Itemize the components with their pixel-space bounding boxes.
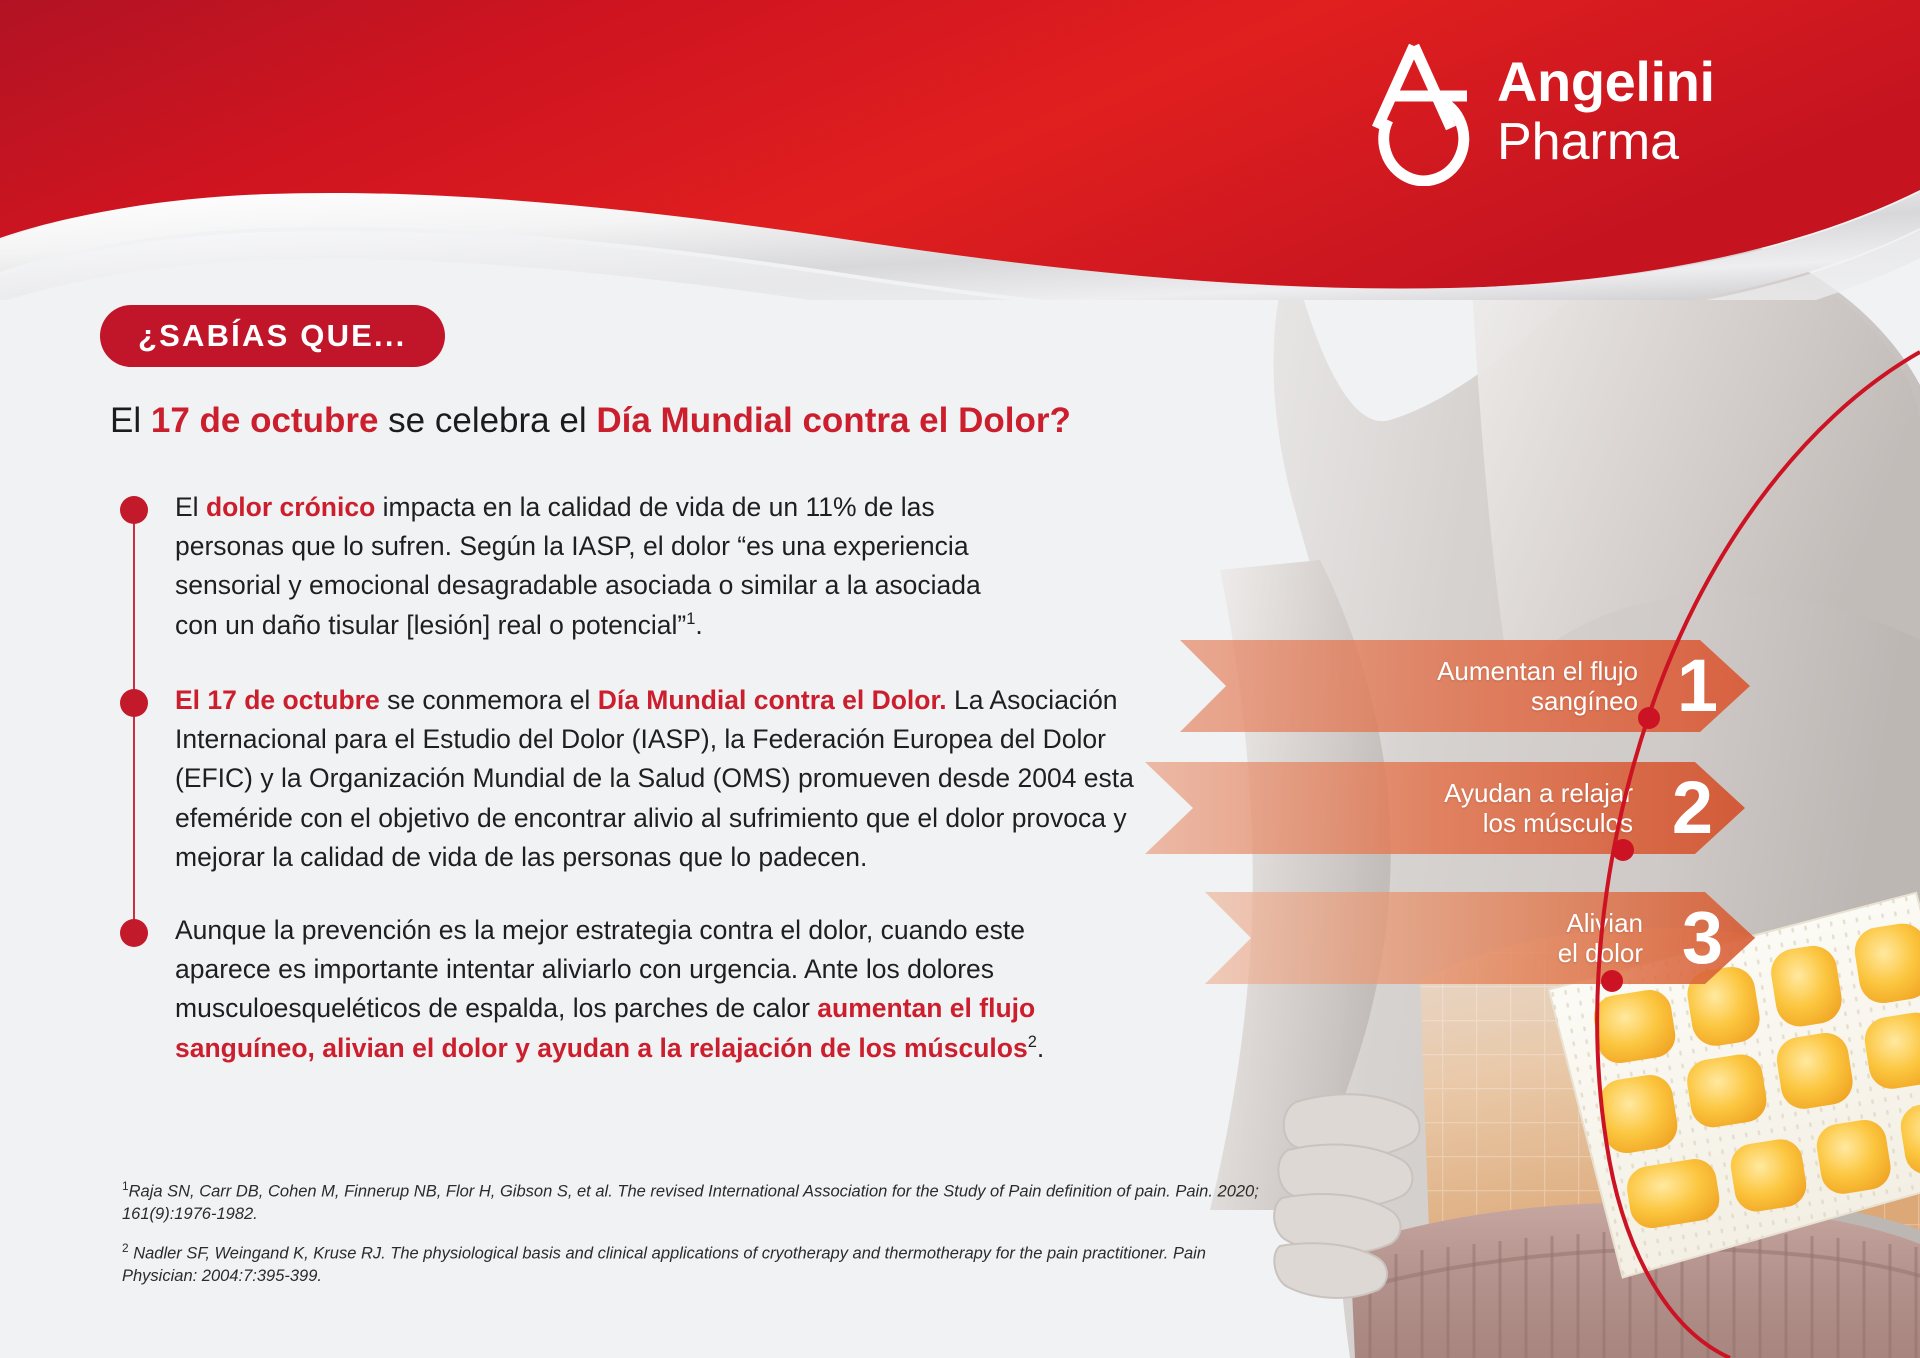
list-item-text: El 17 de octubre se conmemora el Día Mun… bbox=[175, 681, 1185, 877]
list-item: El dolor crónico impacta en la calidad d… bbox=[120, 488, 1160, 645]
angelini-droplet-a-logo-icon bbox=[1355, 36, 1473, 186]
curve-dot-2 bbox=[1612, 839, 1634, 861]
logo-brand-name: Angelini bbox=[1497, 54, 1715, 110]
footnote-2: 2 Nadler SF, Weingand K, Kruse RJ. The p… bbox=[122, 1240, 1282, 1288]
bullet-dot-icon bbox=[120, 496, 148, 524]
bullet-dot-icon bbox=[120, 689, 148, 717]
logo-brand-sub: Pharma bbox=[1497, 116, 1715, 168]
footnotes: 1Raja SN, Carr DB, Cohen M, Finnerup NB,… bbox=[122, 1178, 1282, 1302]
list-item: Aunque la prevención es la mejor estrate… bbox=[120, 911, 1160, 1068]
benefit-banner-1: Aumentan el flujo sangíneo 1 bbox=[1180, 640, 1750, 732]
page-title: El 17 de octubre se celebra el Día Mundi… bbox=[110, 400, 1170, 442]
infographic-poster: Angelini Pharma ¿SABÍAS QUE... El 17 de … bbox=[0, 0, 1920, 1358]
curve-dot-1 bbox=[1638, 707, 1660, 729]
benefit-banner-2: Ayudan a relajar los músculos 2 bbox=[1145, 762, 1745, 854]
bullet-dot-icon bbox=[120, 919, 148, 947]
benefit-banner-1-number: 1 bbox=[1677, 649, 1718, 723]
list-item-text: El dolor crónico impacta en la calidad d… bbox=[175, 488, 990, 645]
angelini-pharma-logo: Angelini Pharma bbox=[1355, 36, 1715, 186]
did-you-know-badge-label: ¿SABÍAS QUE... bbox=[138, 318, 407, 354]
list-item: El 17 de octubre se conmemora el Día Mun… bbox=[120, 681, 1160, 877]
footnote-1: 1Raja SN, Carr DB, Cohen M, Finnerup NB,… bbox=[122, 1178, 1282, 1226]
did-you-know-badge: ¿SABÍAS QUE... bbox=[100, 305, 445, 367]
benefit-banners: Aumentan el flujo sangíneo 1 bbox=[1175, 640, 1920, 1070]
benefit-banner-3-label: Alivian el dolor bbox=[1558, 908, 1643, 968]
benefit-banner-2-number: 2 bbox=[1672, 771, 1713, 845]
bullet-list: El dolor crónico impacta en la calidad d… bbox=[120, 488, 1160, 1098]
benefit-banner-2-label: Ayudan a relajar los músculos bbox=[1444, 778, 1633, 838]
benefit-banner-3-number: 3 bbox=[1682, 901, 1723, 975]
list-item-text: Aunque la prevención es la mejor estrate… bbox=[175, 911, 1055, 1068]
benefit-banner-3: Alivian el dolor 3 bbox=[1205, 892, 1755, 984]
benefit-banner-1-label: Aumentan el flujo sangíneo bbox=[1437, 656, 1638, 716]
curve-dot-3 bbox=[1601, 970, 1623, 992]
